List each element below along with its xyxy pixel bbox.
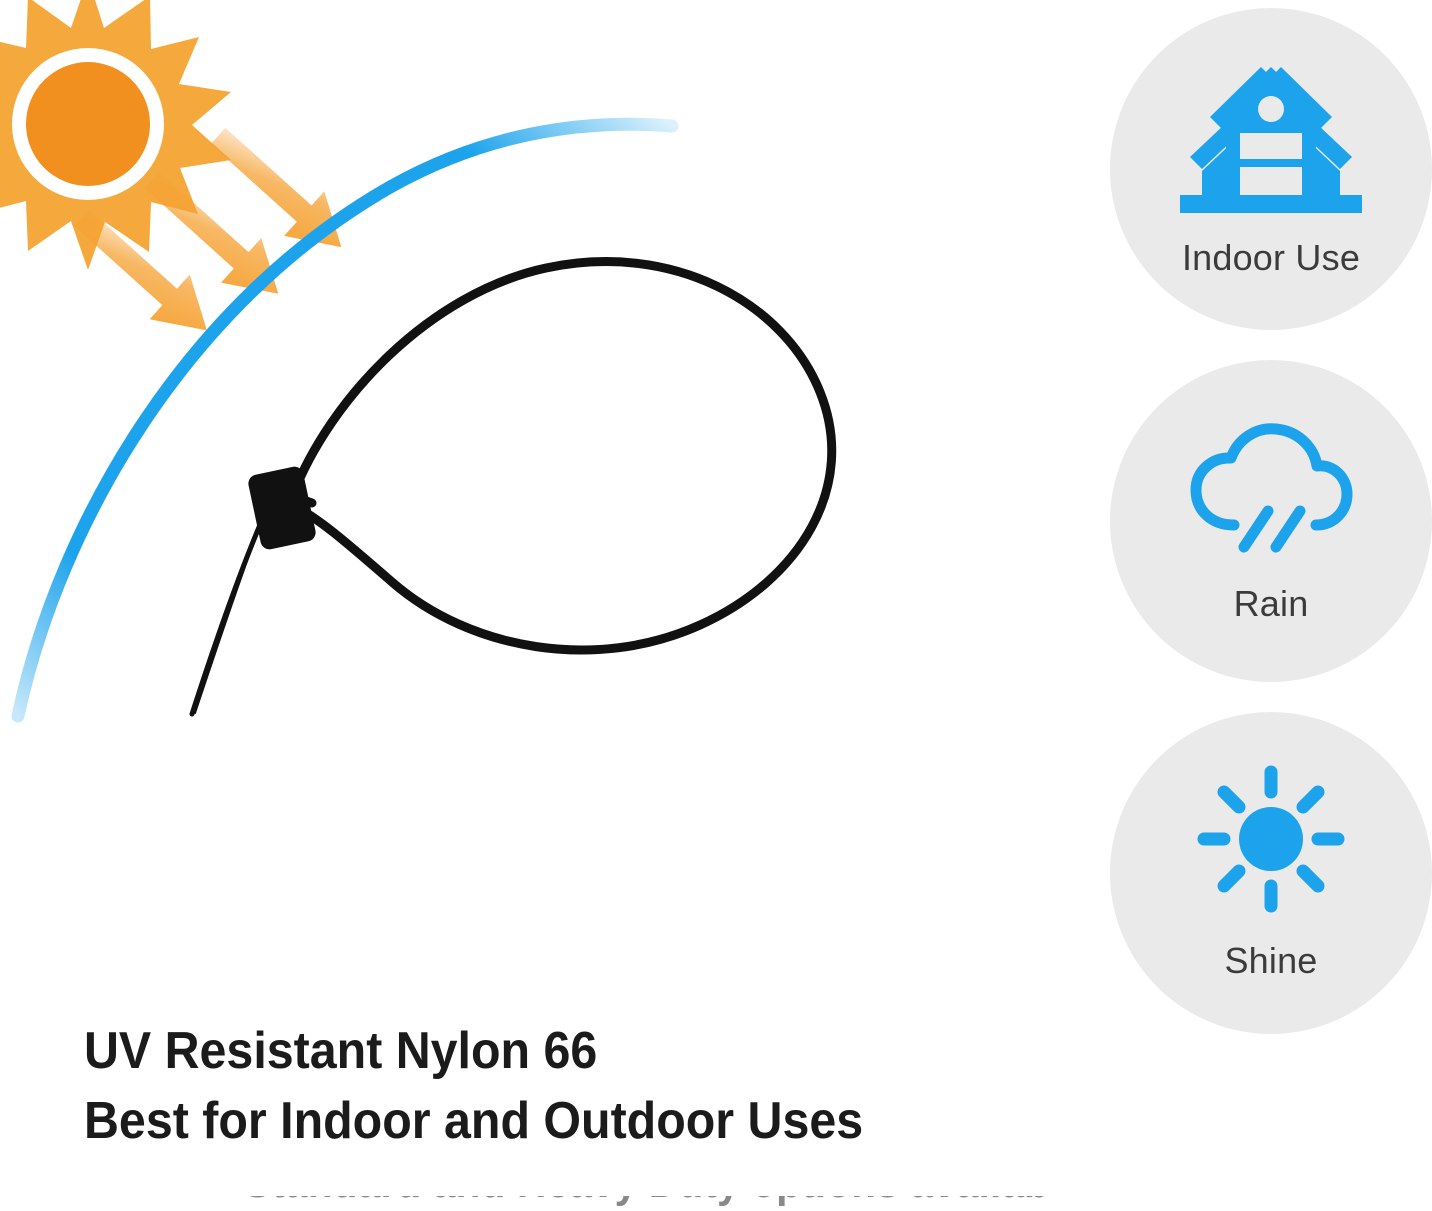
- badge-shine[interactable]: Shine: [1110, 712, 1432, 1034]
- badge-label-shine: Shine: [1224, 940, 1317, 982]
- badge-rain[interactable]: Rain: [1110, 360, 1432, 682]
- caption-line-3: Standard and Heavy Duty options availabl…: [244, 1196, 988, 1211]
- feature-badge-column: Indoor Use Rain: [1110, 8, 1432, 1034]
- caption-line-2: Best for Indoor and Outdoor Uses: [84, 1086, 1014, 1156]
- caption-line-1: UV Resistant Nylon 66: [84, 1016, 1014, 1086]
- house-icon: [1176, 59, 1366, 219]
- cable-tie-icon: [192, 262, 832, 714]
- badge-indoor-use[interactable]: Indoor Use: [1110, 8, 1432, 330]
- caption-block: UV Resistant Nylon 66 Best for Indoor an…: [84, 1016, 1084, 1156]
- badge-label-rain: Rain: [1234, 583, 1309, 625]
- product-infographic: Indoor Use Rain: [0, 0, 1432, 1211]
- sun-shine-icon: [1196, 764, 1346, 914]
- badge-label-indoor-use: Indoor Use: [1182, 237, 1360, 279]
- uv-resistance-illustration: [0, 0, 1090, 1000]
- rain-cloud-icon: [1186, 417, 1356, 557]
- caption-line-3-clipped: Standard and Heavy Duty options availabl…: [244, 1196, 1044, 1211]
